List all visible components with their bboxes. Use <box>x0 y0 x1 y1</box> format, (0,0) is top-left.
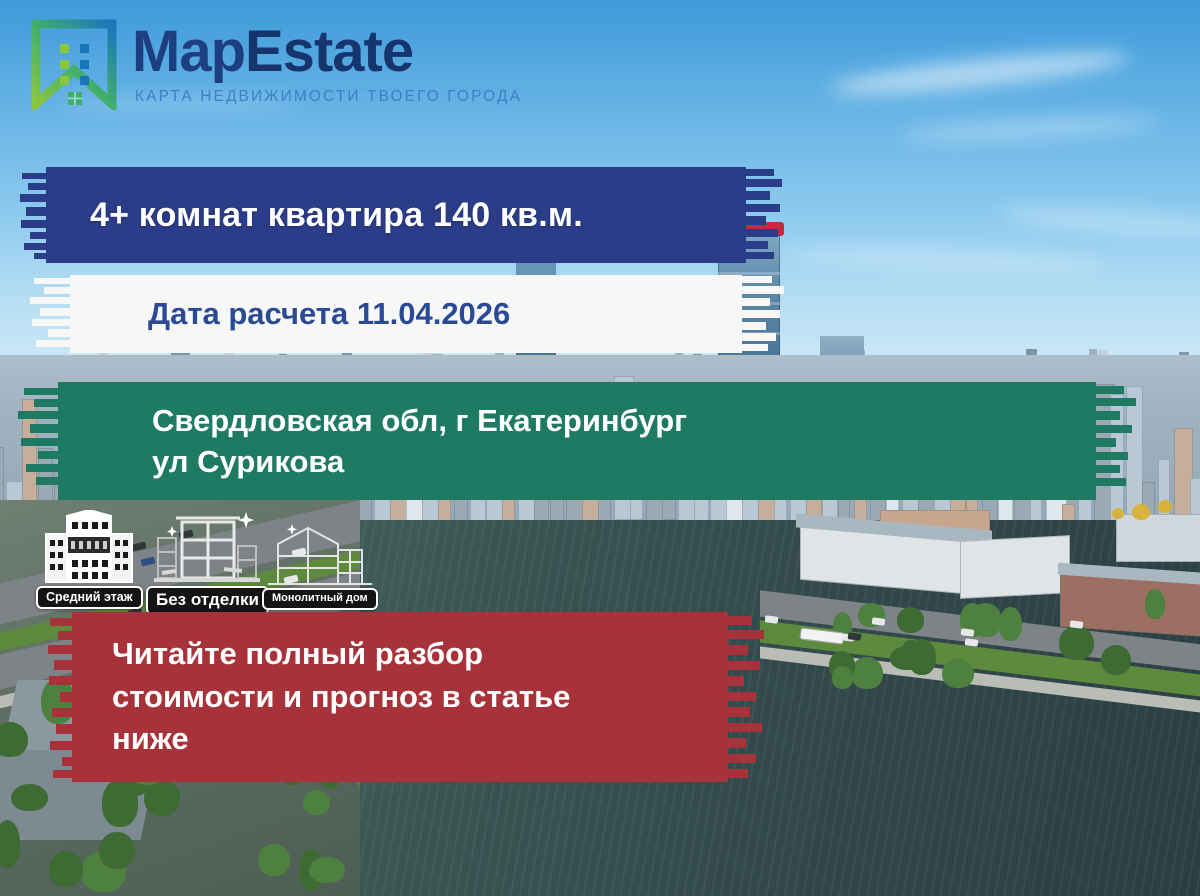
brand-tagline: КАРТА НЕДВИЖИМОСТИ ТВОЕГО ГОРОДА <box>135 88 522 106</box>
banner-date: Дата расчета 11.04.2026 <box>30 272 790 356</box>
banner-cta-text: Читайте полный разбор стоимости и прогно… <box>112 633 570 761</box>
banner-cta-line3: ниже <box>112 721 189 756</box>
brand-text: MapEstate КАРТА НЕДВИЖИМОСТИ ТВОЕГО ГОРО… <box>132 23 522 106</box>
banner-cta: Читайте полный разбор стоимости и прогно… <box>48 608 776 786</box>
badge-middle-floor: Средний этаж <box>36 510 143 609</box>
banner-cta-line1: Читайте полный разбор <box>112 636 483 671</box>
banner-address-line1: Свердловская обл, г Екатеринбург <box>152 403 687 438</box>
property-badges: Средний этаж <box>36 508 416 600</box>
banner-address: Свердловская обл, г Екатеринбург ул Сури… <box>18 380 1140 502</box>
brand-name-part2: Estate <box>245 19 413 84</box>
banner-address-line2: ул Сурикова <box>152 444 344 479</box>
right-bank <box>760 498 1200 758</box>
bookmark-building-icon <box>30 18 118 110</box>
bare-frame-icon <box>154 508 260 586</box>
banner-cta-line2: стоимости и прогноз в статье <box>112 679 570 714</box>
monolithic-building-icon <box>268 522 372 588</box>
badge-no-finishing: Без отделки <box>146 508 269 615</box>
badge-monolithic-house: Монолитный дом <box>262 522 378 610</box>
banner-rooms-text: 4+ комнат квартира 140 кв.м. <box>90 196 583 235</box>
banner-address-text: Свердловская обл, г Екатеринбург ул Сури… <box>152 400 687 482</box>
banner-date-text: Дата расчета 11.04.2026 <box>148 296 510 332</box>
badge-monolithic-house-label: Монолитный дом <box>262 588 378 610</box>
banner-rooms: 4+ комнат квартира 140 кв.м. <box>20 163 782 267</box>
brand-logo[interactable]: MapEstate КАРТА НЕДВИЖИМОСТИ ТВОЕГО ГОРО… <box>30 18 522 110</box>
brand-name-part1: Map <box>132 19 245 84</box>
apartment-building-icon <box>42 510 136 586</box>
badge-middle-floor-label: Средний этаж <box>36 586 143 609</box>
brand-name: MapEstate <box>132 23 522 81</box>
